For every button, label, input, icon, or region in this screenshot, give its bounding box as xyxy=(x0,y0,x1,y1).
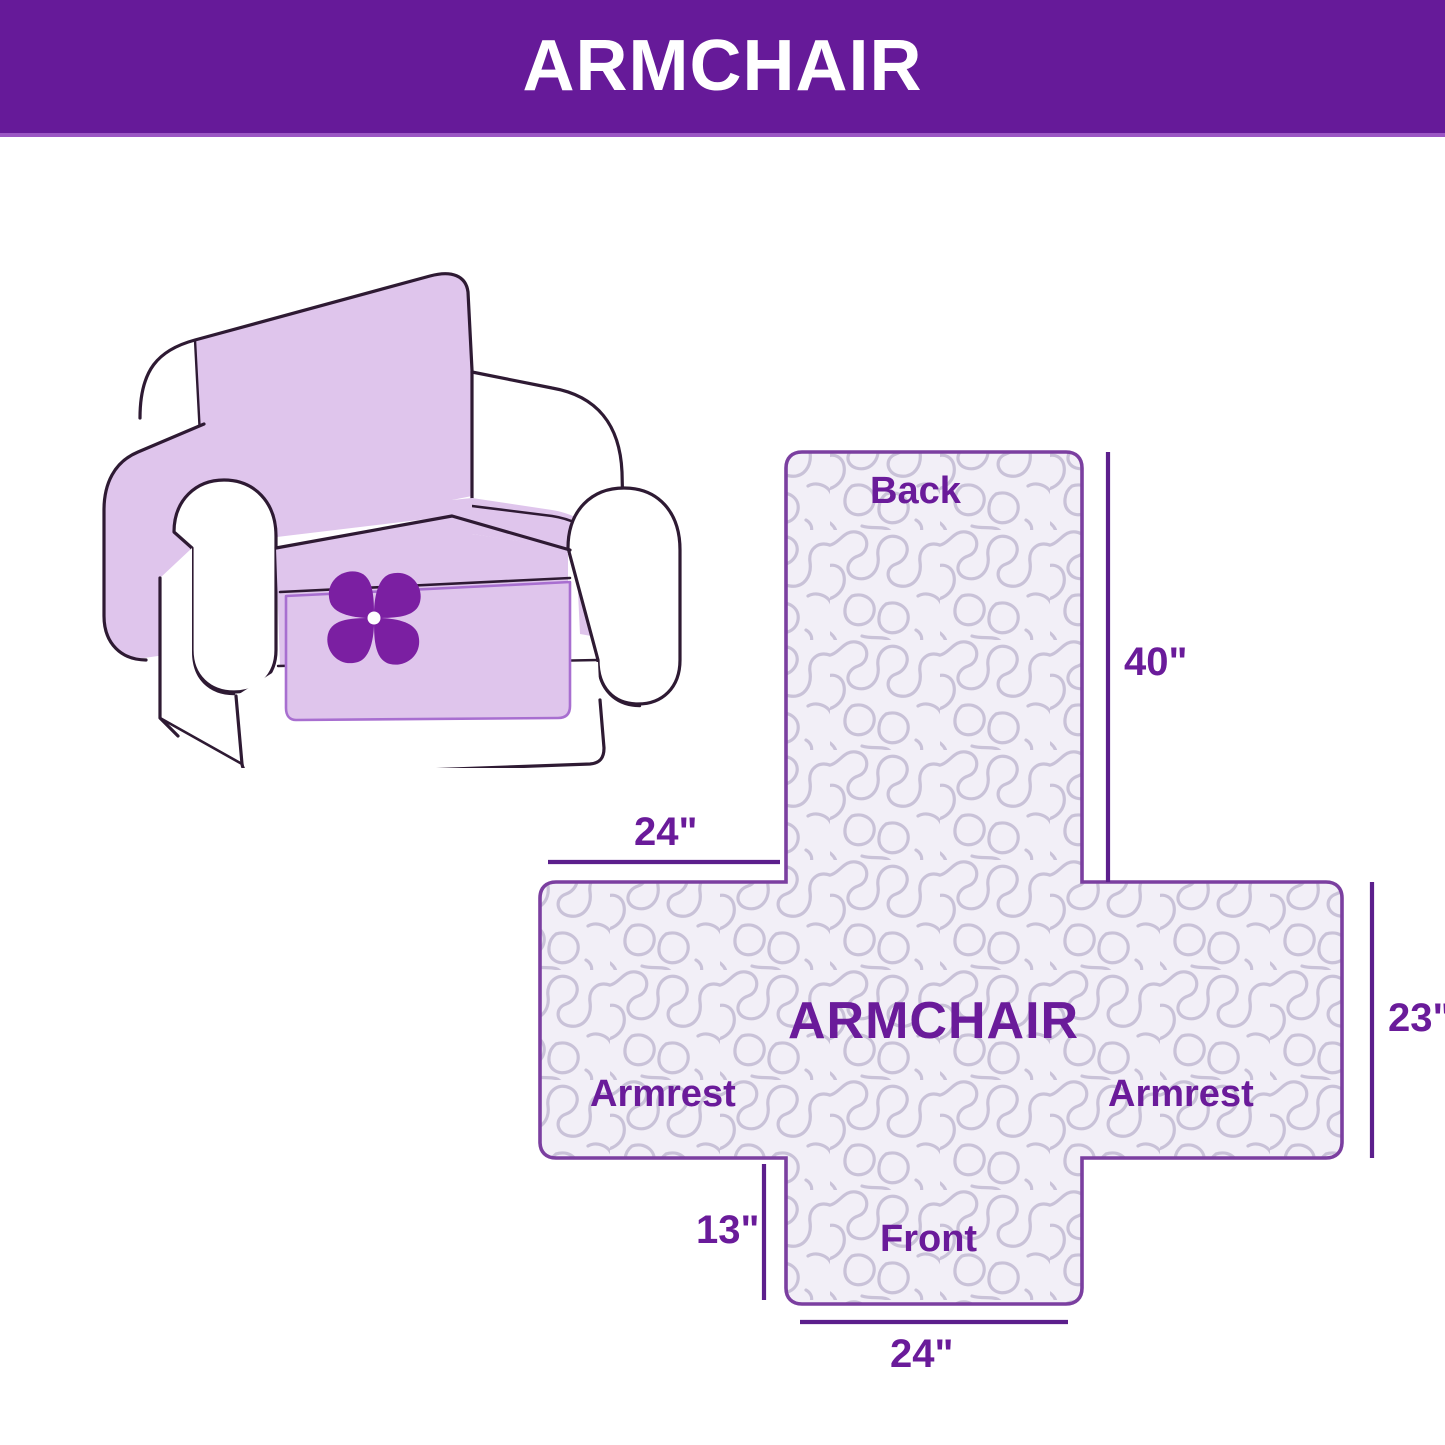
dimension-label-center-height: 23" xyxy=(1388,998,1445,1038)
dimension-label-front-width: 24" xyxy=(890,1334,953,1374)
panel-label-armrest-right: Armrest xyxy=(1108,1075,1254,1113)
page-root: ARMCHAIR xyxy=(0,0,1445,1445)
dimension-label-front-height: 13" xyxy=(696,1210,759,1250)
page-title: ARMCHAIR xyxy=(523,30,923,102)
banner-underline-divider xyxy=(0,133,1445,137)
panel-label-back: Back xyxy=(870,472,961,510)
dimension-label-back-width: 24" xyxy=(634,812,697,852)
panel-label-armrest-left: Armrest xyxy=(590,1075,736,1113)
quilted-fabric-fill xyxy=(500,420,1445,1350)
cover-layout-diagram: Back ARMCHAIR Armrest Armrest Front 40" … xyxy=(500,420,1445,1350)
page-header-banner: ARMCHAIR xyxy=(0,0,1445,135)
dimension-label-back-height: 40" xyxy=(1124,642,1187,682)
cover-shape-svg xyxy=(500,420,1445,1350)
panel-label-front: Front xyxy=(880,1220,977,1258)
panel-label-center: ARMCHAIR xyxy=(788,995,1079,1047)
